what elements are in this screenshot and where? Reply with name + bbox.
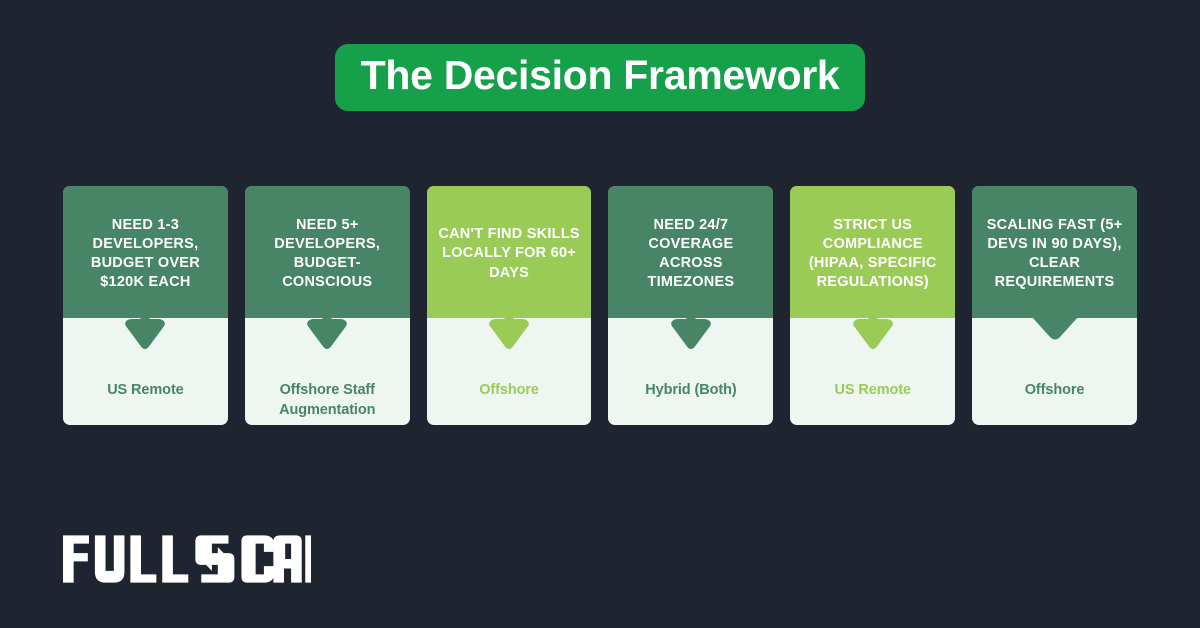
arrow-down-icon	[851, 302, 895, 350]
card-condition-header: NEED 24/7 COVERAGE ACROSS TIMEZONES	[608, 186, 773, 318]
arrow-down-icon	[123, 302, 167, 350]
card-result-text: US Remote	[827, 380, 919, 400]
decision-card-row: NEED 1-3 DEVELOPERS, BUDGET OVER $120K E…	[63, 186, 1137, 425]
title-banner-container: The Decision Framework	[0, 44, 1200, 111]
card-result-body: Offshore	[427, 318, 592, 425]
card-condition-header: NEED 5+ DEVELOPERS, BUDGET-CONSCIOUS	[245, 186, 410, 318]
card-result-body: Hybrid (Both)	[608, 318, 773, 425]
page-title: The Decision Framework	[361, 55, 840, 96]
card-condition-header: STRICT US COMPLIANCE (HIPAA, SPECIFIC RE…	[790, 186, 955, 318]
arrow-down-icon	[305, 302, 349, 350]
card-result-text: US Remote	[99, 380, 191, 400]
brand-logo	[63, 533, 311, 585]
card-condition-header: CAN'T FIND SKILLS LOCALLY FOR 60+ DAYS	[427, 186, 592, 318]
arrow-down-icon	[487, 302, 531, 350]
decision-card: NEED 24/7 COVERAGE ACROSS TIMEZONESHybri…	[608, 186, 773, 425]
decision-card: SCALING FAST (5+ DEVS IN 90 DAYS), CLEAR…	[972, 186, 1137, 425]
decision-card: CAN'T FIND SKILLS LOCALLY FOR 60+ DAYSOf…	[427, 186, 592, 425]
card-condition-text: CAN'T FIND SKILLS LOCALLY FOR 60+ DAYS	[435, 225, 584, 282]
card-condition-text: NEED 5+ DEVELOPERS, BUDGET-CONSCIOUS	[253, 216, 402, 293]
card-result-body: US Remote	[63, 318, 228, 425]
arrow-down-icon	[669, 302, 713, 350]
card-condition-text: NEED 1-3 DEVELOPERS, BUDGET OVER $120K E…	[71, 216, 220, 293]
card-condition-text: NEED 24/7 COVERAGE ACROSS TIMEZONES	[616, 216, 765, 293]
card-condition-header: SCALING FAST (5+ DEVS IN 90 DAYS), CLEAR…	[972, 186, 1137, 318]
card-result-body: US Remote	[790, 318, 955, 425]
decision-card: NEED 5+ DEVELOPERS, BUDGET-CONSCIOUSOffs…	[245, 186, 410, 425]
card-result-body: Offshore Staff Augmentation	[245, 318, 410, 425]
triangle-down-icon	[1032, 317, 1078, 341]
decision-card: NEED 1-3 DEVELOPERS, BUDGET OVER $120K E…	[63, 186, 228, 425]
card-condition-text: SCALING FAST (5+ DEVS IN 90 DAYS), CLEAR…	[980, 216, 1129, 293]
title-banner: The Decision Framework	[335, 44, 866, 111]
decision-card: STRICT US COMPLIANCE (HIPAA, SPECIFIC RE…	[790, 186, 955, 425]
card-result-text: Offshore Staff Augmentation	[245, 380, 410, 420]
card-result-body: Offshore	[972, 318, 1137, 425]
card-result-text: Hybrid (Both)	[637, 380, 744, 400]
card-result-text: Offshore	[471, 380, 547, 400]
card-condition-text: STRICT US COMPLIANCE (HIPAA, SPECIFIC RE…	[798, 216, 947, 293]
card-result-text: Offshore	[1017, 380, 1093, 400]
card-condition-header: NEED 1-3 DEVELOPERS, BUDGET OVER $120K E…	[63, 186, 228, 318]
